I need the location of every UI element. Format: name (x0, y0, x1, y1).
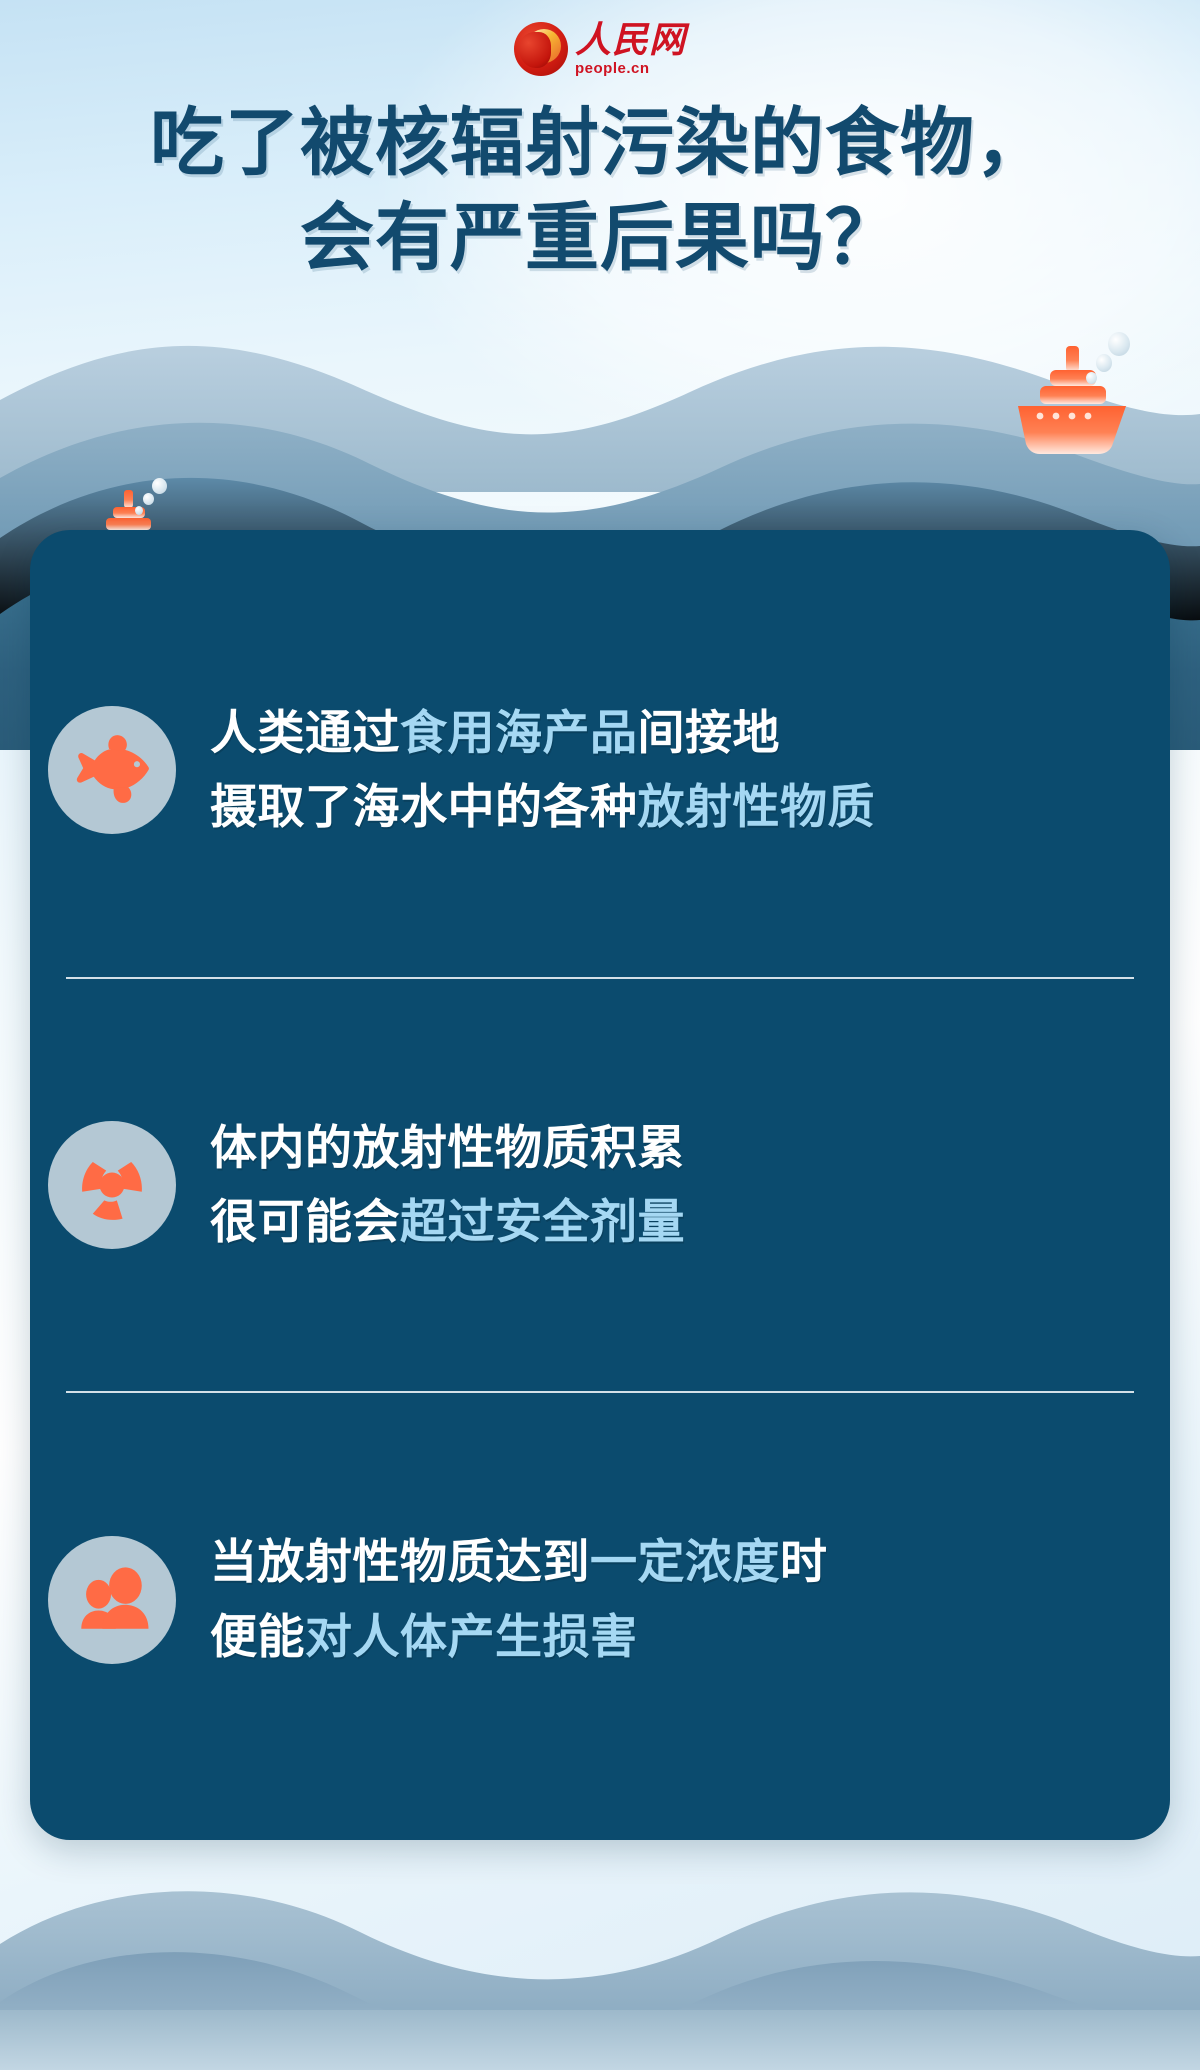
text-run: 很可能会 (210, 1195, 400, 1248)
page-title-line-2: 会有严重后果吗？ (0, 191, 1200, 286)
highlighted-text-run: 一定浓度 (590, 1535, 780, 1588)
text-run: 间接地 (638, 706, 781, 759)
row-text-line-1: 体内的放射性物质积累 (210, 1111, 1128, 1185)
row-text: 人类通过食用海产品间接地 摄取了海水中的各种放射性物质 (210, 696, 1128, 845)
people-icon (48, 1536, 176, 1664)
text-run: 人类通过 (210, 706, 400, 759)
infographic-poster: 人民网 people.cn 吃了被核辐射污染的食物， 会有严重后果吗？ (0, 0, 1200, 2070)
content-rows: 人类通过食用海产品间接地 摄取了海水中的各种放射性物质 (30, 530, 1170, 1840)
page-title-line-1: 吃了被核辐射污染的食物， (0, 96, 1200, 191)
text-run: 当放射性物质达到 (210, 1535, 590, 1588)
row-text-line-1: 人类通过食用海产品间接地 (210, 696, 1128, 770)
content-card: 人类通过食用海产品间接地 摄取了海水中的各种放射性物质 (30, 530, 1170, 1840)
brand-name-cn: 人民网 (575, 22, 686, 58)
row-text: 体内的放射性物质积累 很可能会超过安全剂量 (210, 1111, 1128, 1260)
row-text: 当放射性物质达到一定浓度时 便能对人体产生损害 (210, 1525, 1128, 1674)
radiation-icon (48, 1121, 176, 1249)
content-row: 体内的放射性物质积累 很可能会超过安全剂量 (30, 979, 1170, 1392)
highlighted-text-run: 食用海产品 (400, 706, 638, 759)
highlighted-text-run: 超过安全剂量 (400, 1195, 685, 1248)
people-cn-logo-icon (514, 22, 568, 76)
row-text-line-2: 摄取了海水中的各种放射性物质 (210, 770, 1128, 844)
row-text-line-1: 当放射性物质达到一定浓度时 (210, 1525, 1128, 1599)
text-run: 体内的放射性物质积累 (210, 1121, 685, 1174)
page-title: 吃了被核辐射污染的食物， 会有严重后果吗？ (0, 96, 1200, 285)
fish-icon (48, 706, 176, 834)
brand-name-en: people.cn (575, 61, 650, 76)
row-text-line-2: 便能对人体产生损害 (210, 1600, 1128, 1674)
row-text-line-2: 很可能会超过安全剂量 (210, 1185, 1128, 1259)
content-row: 人类通过食用海产品间接地 摄取了海水中的各种放射性物质 (30, 564, 1170, 977)
highlighted-text-run: 放射性物质 (638, 780, 876, 833)
text-run: 便能 (210, 1610, 305, 1663)
bottom-gradient-fill (0, 2010, 1200, 2070)
ship-icon-large (1000, 330, 1140, 460)
content-row: 当放射性物质达到一定浓度时 便能对人体产生损害 (30, 1393, 1170, 1806)
text-run: 摄取了海水中的各种 (210, 780, 638, 833)
brand-logo: 人民网 people.cn (0, 22, 1200, 76)
text-run: 时 (780, 1535, 828, 1588)
highlighted-text-run: 对人体产生损害 (305, 1610, 638, 1663)
